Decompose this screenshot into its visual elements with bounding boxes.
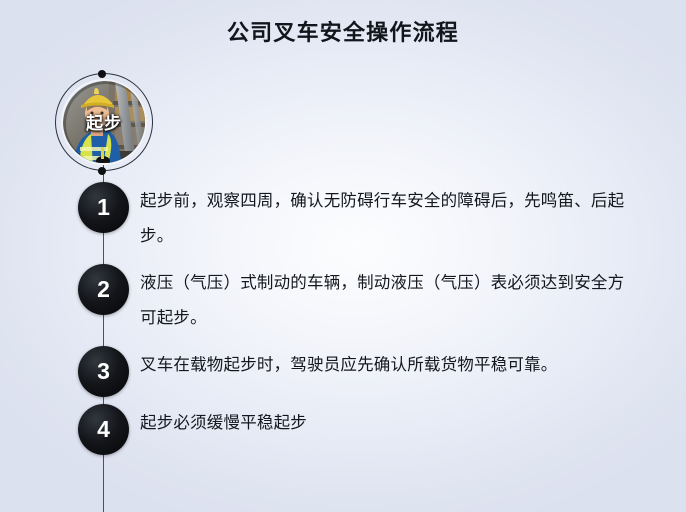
step-number-badge: 3 <box>78 346 129 397</box>
step-number-badge: 4 <box>78 404 129 455</box>
operator-photo <box>61 79 147 165</box>
stage-badge: 起步 <box>47 68 161 176</box>
step-text: 起步前，观察四周，确认无防碍行车安全的障碍后，先鸣笛、后起步。 <box>140 184 640 254</box>
ring-dot-bottom-icon <box>98 167 106 175</box>
step-text: 液压（气压）式制动的车辆，制动液压（气压）表必须达到安全方可起步。 <box>140 266 640 336</box>
slide-canvas: 公司叉车安全操作流程 <box>0 0 686 512</box>
step-number-badge: 2 <box>78 264 129 315</box>
step-number-badge: 1 <box>78 182 129 233</box>
step-text: 起步必须缓慢平稳起步 <box>140 406 640 441</box>
step-text: 叉车在载物起步时，驾驶员应先确认所载货物平稳可靠。 <box>140 348 640 383</box>
page-title: 公司叉车安全操作流程 <box>0 18 686 48</box>
ring-dot-top-icon <box>98 70 106 78</box>
